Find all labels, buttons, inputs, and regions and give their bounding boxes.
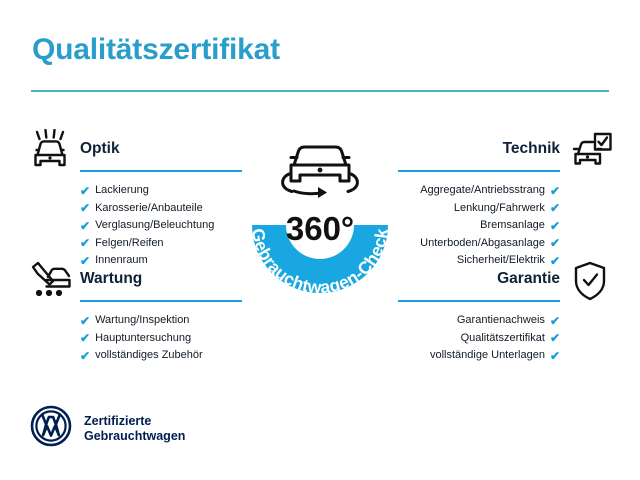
list-item-label: vollständige Unterlagen [430, 347, 545, 365]
check-icon: ✔ [80, 202, 90, 214]
list-item-label: Hauptuntersuchung [95, 330, 191, 348]
section-title: Optik [80, 140, 120, 158]
list-item-label: Felgen/Reifen [95, 235, 164, 253]
list-item-label: Qualitätszertifikat [461, 330, 545, 348]
section-item-list: Garantienachweis ✔ Qualitätszertifikat ✔… [368, 312, 618, 365]
section-divider [398, 300, 560, 302]
check-icon: ✔ [80, 315, 90, 327]
list-item-label: Aggregate/Antriebsstrang [420, 182, 545, 200]
vw-logo [30, 405, 72, 452]
page-title: Qualitätszertifikat [32, 33, 280, 67]
car-rotation-icon [283, 147, 358, 198]
check-icon: ✔ [80, 220, 90, 232]
list-item: Garantienachweis ✔ [368, 312, 618, 330]
section-item-list: ✔ Wartung/Inspektion ✔ Hauptuntersuchung… [22, 312, 272, 365]
check-icon: ✔ [80, 185, 90, 197]
list-item-label: Verglasung/Beleuchtung [95, 217, 214, 235]
list-item-label: Lackierung [95, 182, 149, 200]
badge-360-gebrauchtwagen-check: Gebrauchtwagen-Check 360° [232, 118, 408, 313]
check-icon: ✔ [80, 332, 90, 344]
certificate-page: Qualitätszertifikat [0, 0, 640, 480]
check-icon: ✔ [80, 237, 90, 249]
vw-certified-lockup: Zertifizierte Gebrauchtwagen [30, 405, 185, 452]
vw-wordmark: Zertifizierte Gebrauchtwagen [84, 414, 185, 444]
check-icon: ✔ [550, 332, 560, 344]
title-divider [31, 90, 609, 92]
check-icon: ✔ [550, 202, 560, 214]
car-checkbox-icon [564, 128, 616, 174]
list-item-label: vollständiges Zubehör [95, 347, 203, 365]
section-title: Technik [503, 140, 560, 158]
check-icon: ✔ [550, 350, 560, 362]
check-icon: ✔ [550, 315, 560, 327]
wrench-car-icon [24, 258, 76, 304]
check-icon: ✔ [550, 185, 560, 197]
list-item: Qualitätszertifikat ✔ [368, 330, 618, 348]
list-item: ✔ Wartung/Inspektion [22, 312, 272, 330]
check-icon: ✔ [80, 350, 90, 362]
list-item-label: Lenkung/Fahrwerk [454, 200, 545, 218]
list-item-label: Karosserie/Anbauteile [95, 200, 203, 218]
vw-wordmark-line2: Gebrauchtwagen [84, 429, 185, 444]
list-item-label: Unterboden/Abgasanlage [420, 235, 545, 253]
car-shine-icon [24, 128, 76, 174]
check-icon: ✔ [550, 237, 560, 249]
section-title: Garantie [497, 270, 560, 288]
section-divider [80, 300, 242, 302]
shield-check-icon [564, 258, 616, 304]
section-divider [80, 170, 242, 172]
section-divider [398, 170, 560, 172]
list-item-label: Bremsanlage [480, 217, 545, 235]
vw-wordmark-line1: Zertifizierte [84, 414, 185, 429]
list-item: vollständige Unterlagen ✔ [368, 347, 618, 365]
list-item: ✔ Hauptuntersuchung [22, 330, 272, 348]
list-item-label: Garantienachweis [457, 312, 545, 330]
check-icon: ✔ [550, 220, 560, 232]
badge-center-label: 360° [286, 210, 354, 247]
list-item: ✔ vollständiges Zubehör [22, 347, 272, 365]
list-item-label: Wartung/Inspektion [95, 312, 189, 330]
section-title: Wartung [80, 270, 142, 288]
